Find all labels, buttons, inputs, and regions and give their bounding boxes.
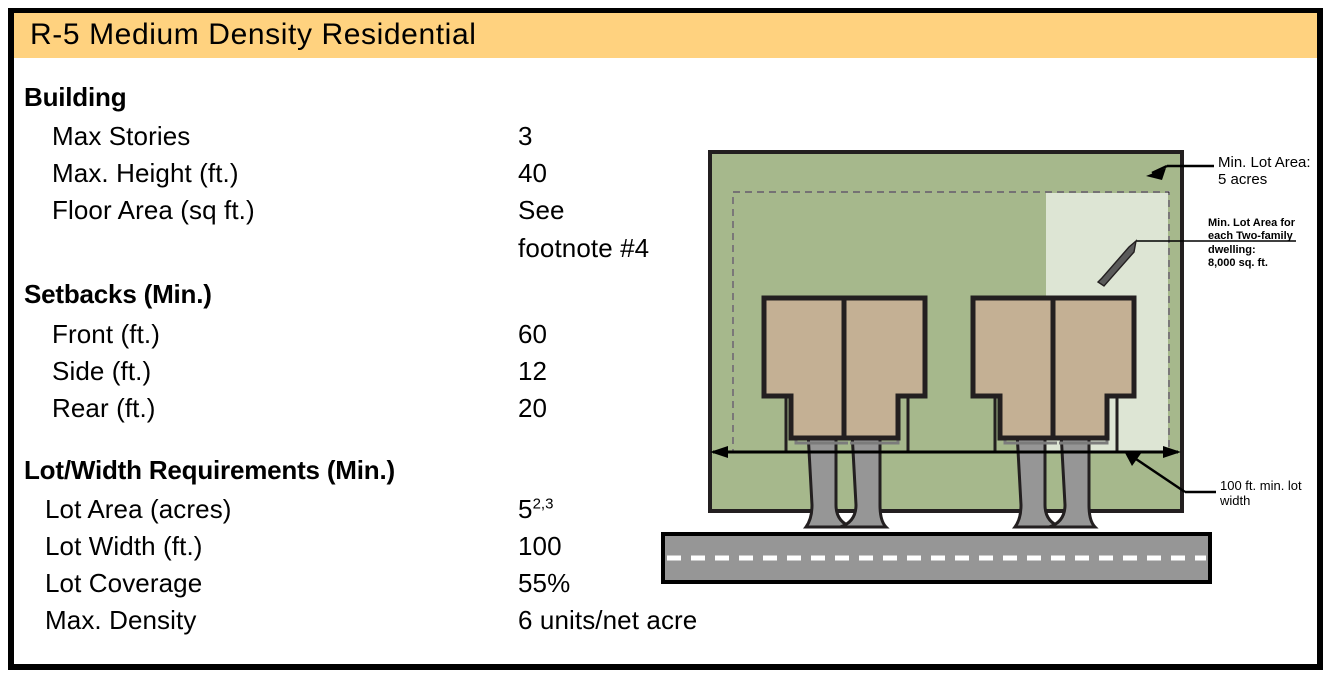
spec-value-side-setback: 12 xyxy=(518,356,547,387)
spec-value-front-setback: 60 xyxy=(518,319,547,350)
spec-label-max-height: Max. Height (ft.) xyxy=(52,158,239,189)
spec-label-floor-area: Floor Area (sq ft.) xyxy=(52,195,255,226)
spec-value-max-stories: 3 xyxy=(518,121,533,152)
spec-label-lot-area: Lot Area (acres) xyxy=(45,494,232,525)
annotation-lot-width: 100 ft. min. lot width xyxy=(1220,478,1302,509)
figure-frame xyxy=(8,8,1323,670)
spec-label-side-setback: Side (ft.) xyxy=(52,356,151,387)
spec-label-rear-setback: Rear (ft.) xyxy=(52,393,156,424)
spec-label-lot-width: Lot Width (ft.) xyxy=(45,531,203,562)
page-title: R-5 Medium Density Residential xyxy=(30,18,477,52)
spec-value-lot-area-superscript: 2,3 xyxy=(533,495,554,512)
spec-value-lot-area-number: 5 xyxy=(518,494,533,524)
annotation-two-family-lot-area: Min. Lot Area for each Two-family dwelli… xyxy=(1208,217,1295,271)
spec-value-rear-setback: 20 xyxy=(518,393,547,424)
zone-title-bar: R-5 Medium Density Residential xyxy=(14,13,1317,58)
spec-group-title-setbacks: Setbacks (Min.) xyxy=(24,279,212,310)
spec-value-max-height: 40 xyxy=(518,158,547,189)
spec-value-lot-coverage: 55% xyxy=(518,568,570,599)
spec-value-lot-area: 52,3 xyxy=(518,494,553,525)
spec-label-front-setback: Front (ft.) xyxy=(52,319,160,350)
spec-value-floor-area: See xyxy=(518,195,565,226)
spec-group-title-building: Building xyxy=(24,82,126,113)
spec-value-floor-area-cont: footnote #4 xyxy=(518,233,649,264)
spec-group-title-lot-width: Lot/Width Requirements (Min.) xyxy=(24,455,395,486)
zoning-standards-figure: R-5 Medium Density Residential Building … xyxy=(0,0,1342,691)
spec-value-lot-width: 100 xyxy=(518,531,562,562)
spec-label-lot-coverage: Lot Coverage xyxy=(45,568,202,599)
spec-label-max-density: Max. Density xyxy=(45,605,196,636)
annotation-min-lot-area: Min. Lot Area: 5 acres xyxy=(1218,155,1311,189)
spec-value-max-density: 6 units/net acre xyxy=(518,605,697,636)
spec-label-max-stories: Max Stories xyxy=(52,121,190,152)
